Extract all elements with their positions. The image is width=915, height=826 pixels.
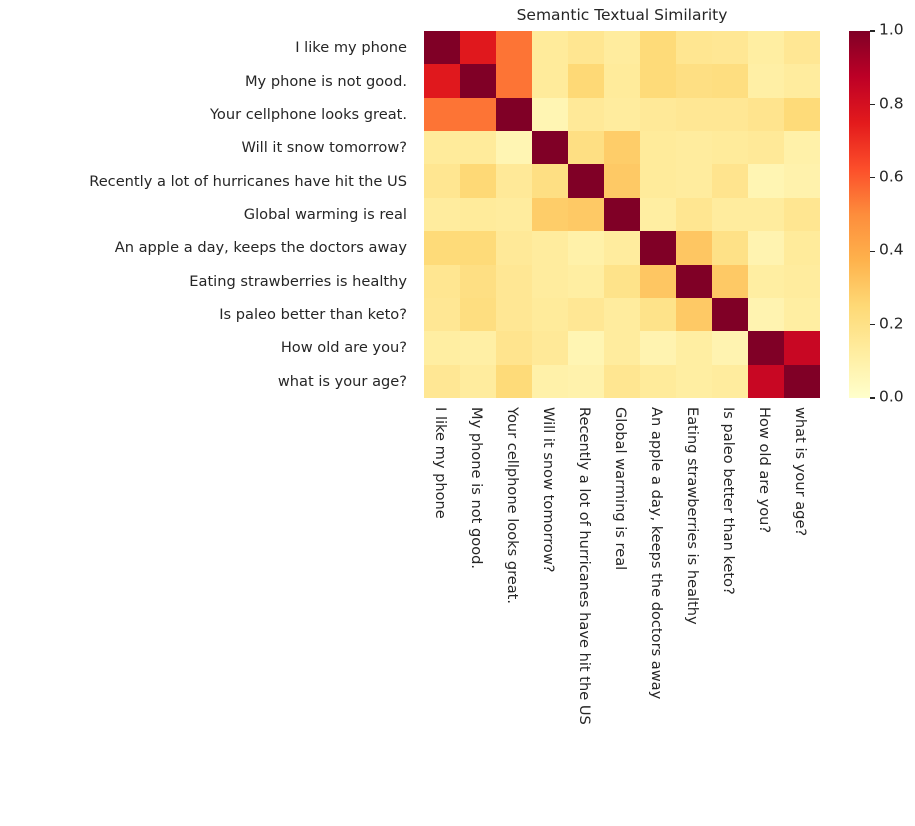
heatmap-cell	[604, 231, 640, 264]
x-tick-slot: Your cellphone looks great.	[496, 398, 532, 818]
heatmap-cell	[532, 164, 568, 197]
heatmap-cell	[460, 365, 496, 398]
heatmap-cell	[676, 31, 712, 64]
heatmap-cell	[568, 198, 604, 231]
heatmap-cell	[784, 31, 820, 64]
heatmap-cell	[604, 64, 640, 97]
heatmap-cell	[784, 331, 820, 364]
y-tick-label: Recently a lot of hurricanes have hit th…	[0, 164, 416, 197]
colorbar-tick-label: 1.0	[879, 23, 904, 39]
heatmap-cell	[712, 298, 748, 331]
heatmap-cell	[424, 198, 460, 231]
heatmap-cell	[496, 98, 532, 131]
y-tick-label: Your cellphone looks great.	[0, 98, 416, 131]
heatmap-cell	[424, 265, 460, 298]
heatmap-cell	[496, 331, 532, 364]
heatmap-cell	[604, 164, 640, 197]
heatmap-cell	[496, 365, 532, 398]
heatmap-cell	[568, 164, 604, 197]
heatmap-cell	[496, 231, 532, 264]
heatmap-cell	[604, 198, 640, 231]
heatmap-cell	[748, 365, 784, 398]
heatmap-cell	[676, 365, 712, 398]
heatmap-cell	[460, 265, 496, 298]
heatmap-cell	[784, 198, 820, 231]
heatmap-cell	[640, 31, 676, 64]
heatmap-cell	[748, 131, 784, 164]
colorbar-tick-mark	[870, 30, 875, 31]
heatmap-cell	[748, 331, 784, 364]
x-tick-slot: Is paleo better than keto?	[712, 398, 748, 818]
x-tick-label: Global warming is real	[612, 407, 629, 570]
heatmap-cell	[712, 265, 748, 298]
heatmap-cell	[784, 365, 820, 398]
heatmap-cell	[532, 31, 568, 64]
x-tick-label: I like my phone	[432, 407, 449, 519]
y-tick-label: I like my phone	[0, 31, 416, 64]
heatmap-cell	[496, 31, 532, 64]
heatmap-cell	[568, 365, 604, 398]
x-tick-label: Recently a lot of hurricanes have hit th…	[576, 407, 593, 725]
heatmap-cell	[640, 164, 676, 197]
x-tick-label: Eating strawberries is healthy	[684, 407, 701, 625]
heatmap-cell	[748, 298, 784, 331]
heatmap-cell	[496, 64, 532, 97]
y-tick-label: An apple a day, keeps the doctors away	[0, 231, 416, 264]
heatmap-cell	[784, 298, 820, 331]
page-title: Semantic Textual Similarity	[424, 6, 820, 24]
y-axis-tick-labels: I like my phoneMy phone is not good.Your…	[0, 31, 416, 398]
colorbar-tick-label: 0.4	[879, 243, 904, 259]
heatmap-cell	[784, 131, 820, 164]
heatmap-cell	[784, 265, 820, 298]
heatmap-cell	[568, 64, 604, 97]
colorbar-tick-mark	[870, 324, 875, 325]
heatmap-cell	[424, 64, 460, 97]
heatmap-cell	[424, 131, 460, 164]
heatmap-cell	[496, 198, 532, 231]
heatmap-cell	[460, 31, 496, 64]
heatmap-cell	[532, 131, 568, 164]
heatmap-cell	[748, 31, 784, 64]
x-tick-slot: My phone is not good.	[460, 398, 496, 818]
x-tick-slot: An apple a day, keeps the doctors away	[640, 398, 676, 818]
heatmap-cell	[568, 298, 604, 331]
heatmap-cell	[748, 265, 784, 298]
heatmap-cell	[748, 98, 784, 131]
colorbar-tick-label: 0.8	[879, 96, 904, 112]
x-tick-slot: I like my phone	[424, 398, 460, 818]
heatmap-cell	[532, 198, 568, 231]
x-tick-slot: what is your age?	[784, 398, 820, 818]
heatmap-cell	[676, 98, 712, 131]
heatmap-cell	[784, 231, 820, 264]
colorbar-tick-label: 0.0	[879, 390, 904, 406]
heatmap-cell	[532, 365, 568, 398]
x-tick-slot: Recently a lot of hurricanes have hit th…	[568, 398, 604, 818]
heatmap-cell	[532, 331, 568, 364]
x-tick-slot: Global warming is real	[604, 398, 640, 818]
heatmap-cell	[712, 365, 748, 398]
colorbar-tick-label: 0.6	[879, 170, 904, 186]
heatmap-cell	[604, 98, 640, 131]
heatmap-cell	[532, 98, 568, 131]
heatmap-cell	[424, 164, 460, 197]
heatmap-cell	[712, 64, 748, 97]
heatmap-cell	[604, 331, 640, 364]
heatmap-cell	[640, 231, 676, 264]
y-tick-label: How old are you?	[0, 331, 416, 364]
heatmap-cell	[784, 98, 820, 131]
y-tick-label: what is your age?	[0, 365, 416, 398]
x-tick-label: An apple a day, keeps the doctors away	[648, 407, 665, 699]
x-tick-slot: Will it snow tomorrow?	[532, 398, 568, 818]
y-tick-label: Eating strawberries is healthy	[0, 265, 416, 298]
x-tick-slot: How old are you?	[748, 398, 784, 818]
colorbar-tick-label: 0.2	[879, 316, 904, 332]
heatmap-cell	[712, 331, 748, 364]
heatmap-cell	[640, 265, 676, 298]
heatmap-cell	[460, 331, 496, 364]
heatmap-cell	[568, 331, 604, 364]
heatmap-cell	[748, 164, 784, 197]
heatmap-cell	[604, 298, 640, 331]
heatmap-cell	[460, 231, 496, 264]
heatmap-cell	[460, 164, 496, 197]
heatmap-cell	[532, 265, 568, 298]
x-axis-tick-labels: I like my phoneMy phone is not good.Your…	[424, 398, 820, 818]
heatmap-cell	[784, 164, 820, 197]
heatmap-cell	[568, 131, 604, 164]
x-tick-label: Is paleo better than keto?	[720, 407, 737, 595]
y-tick-label: Will it snow tomorrow?	[0, 131, 416, 164]
heatmap-cell	[640, 331, 676, 364]
heatmap-cell	[568, 265, 604, 298]
heatmap-cell	[640, 64, 676, 97]
x-tick-label: My phone is not good.	[468, 407, 485, 569]
colorbar-tick-mark	[870, 104, 875, 105]
heatmap-cell	[424, 98, 460, 131]
heatmap-cell	[676, 231, 712, 264]
colorbar-tick-mark	[870, 397, 875, 398]
heatmap-cell	[424, 231, 460, 264]
heatmap-cell	[640, 298, 676, 331]
colorbar-tick-mark	[870, 251, 875, 252]
heatmap-cell	[640, 198, 676, 231]
heatmap-cell	[748, 64, 784, 97]
heatmap-cell	[640, 365, 676, 398]
heatmap-cell	[460, 298, 496, 331]
heatmap-grid	[424, 31, 820, 398]
heatmap-cell	[604, 31, 640, 64]
heatmap-cell	[460, 98, 496, 131]
heatmap-cell	[676, 265, 712, 298]
heatmap-cell	[532, 64, 568, 97]
x-tick-label: How old are you?	[756, 407, 773, 533]
heatmap-cell	[496, 265, 532, 298]
heatmap-cell	[424, 298, 460, 331]
heatmap-cell	[532, 231, 568, 264]
heatmap-cell	[604, 265, 640, 298]
heatmap-cell	[748, 198, 784, 231]
heatmap-cell	[676, 298, 712, 331]
heatmap-cell	[424, 31, 460, 64]
x-tick-slot: Eating strawberries is healthy	[676, 398, 712, 818]
heatmap-cell	[640, 98, 676, 131]
heatmap-cell	[604, 365, 640, 398]
heatmap-cell	[676, 164, 712, 197]
heatmap-cell	[712, 231, 748, 264]
heatmap-cell	[676, 64, 712, 97]
heatmap-cell	[568, 31, 604, 64]
y-tick-label: My phone is not good.	[0, 64, 416, 97]
heatmap-cell	[568, 231, 604, 264]
y-tick-label: Is paleo better than keto?	[0, 298, 416, 331]
heatmap-cell	[676, 198, 712, 231]
heatmap-cell	[496, 164, 532, 197]
heatmap-cell	[712, 131, 748, 164]
heatmap-cell	[712, 164, 748, 197]
heatmap-cell	[712, 198, 748, 231]
colorbar[interactable]: 0.00.20.40.60.81.0	[849, 31, 870, 398]
heatmap-cell	[676, 131, 712, 164]
x-tick-label: Will it snow tomorrow?	[540, 407, 557, 573]
heatmap-cell	[532, 298, 568, 331]
colorbar-gradient	[849, 31, 870, 398]
heatmap-cell	[640, 131, 676, 164]
heatmap-cell	[496, 131, 532, 164]
x-tick-label: Your cellphone looks great.	[504, 407, 521, 604]
colorbar-tick-mark	[870, 177, 875, 178]
y-tick-label: Global warming is real	[0, 198, 416, 231]
heatmap-cell	[460, 198, 496, 231]
semantic-similarity-figure: Semantic Textual Similarity I like my ph…	[0, 0, 915, 826]
heatmap-cell	[712, 31, 748, 64]
heatmap-cell	[712, 98, 748, 131]
x-tick-label: what is your age?	[792, 407, 809, 536]
heatmap-cell	[676, 331, 712, 364]
heatmap-cell	[460, 131, 496, 164]
heatmap-cell	[568, 98, 604, 131]
heatmap-cell	[424, 365, 460, 398]
heatmap-cell	[496, 298, 532, 331]
heatmap-cell	[604, 131, 640, 164]
heatmap-cell	[784, 64, 820, 97]
heatmap-cell	[748, 231, 784, 264]
heatmap-cell	[460, 64, 496, 97]
heatmap-cell	[424, 331, 460, 364]
